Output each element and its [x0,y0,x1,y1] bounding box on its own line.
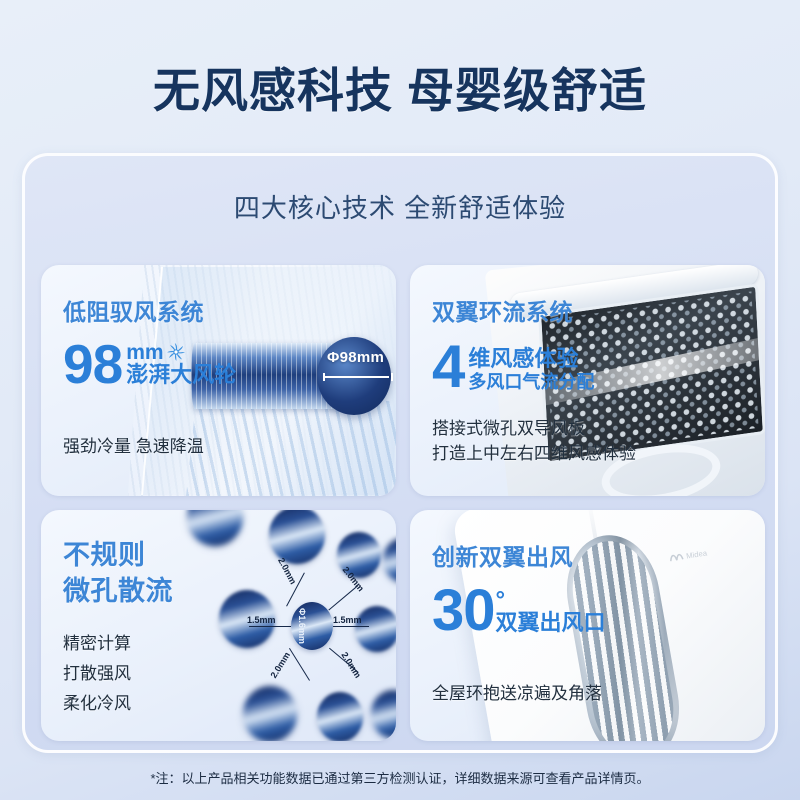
hole-pitch-callout-bottom-left: 2.0mm [268,650,292,679]
card2-stat-number: 4 [432,339,464,394]
card1-text-block: 低阻驭风系统 98 mm [63,293,236,390]
card3-title-line1: 不规则 [63,538,173,574]
card4-stat-sub: 双翼出风口 [496,611,606,636]
card4-description: 全屋环抱送凉遍及角落 [432,682,602,706]
card3-text-block: 不规则 微孔散流 [63,538,173,609]
svg-text:Midea: Midea [686,548,709,560]
card4-stat: 30 ° 双翼出风口 [432,584,606,637]
fan-diameter-callout: Φ98mm [327,349,384,366]
card3-description-line2: 打散强风 [63,662,131,686]
card1-stat-sub: 澎湃大风轮 [126,363,236,388]
card4-text-block: 创新双翼出风 30 ° 双翼出风口 [432,538,606,637]
hole-pitch-callout-bottom-right: 2.0mm [339,650,363,679]
footnote: *注：以上产品相关功能数据已通过第三方检测认证，详细数据来源可查看产品详情页。 [0,768,800,787]
feature-card-low-resistance-fan[interactable]: Φ98mm 低阻驭风系统 98 mm [41,265,396,496]
fan-diameter-dimension-line [323,373,389,381]
feature-card-dual-wing-circulation[interactable]: 双翼环流系统 4 维风感体验 多风口气流分配 搭接式微孔双导风板 打造上中左右四… [410,265,765,496]
card3-description-line1: 精密计算 [63,632,131,656]
card1-stat-number: 98 [63,339,122,390]
fan-turbine-icon [166,342,186,362]
card2-description-line2: 打造上中左右四维风感体验 [432,442,636,466]
card4-stat-number: 30 [432,584,495,637]
card2-stat: 4 维风感体验 多风口气流分配 [432,339,594,394]
card2-text-block: 双翼环流系统 4 维风感体验 多风口气流分配 [432,293,594,394]
card1-stat: 98 mm [63,339,236,390]
feature-card-grid: Φ98mm 低阻驭风系统 98 mm [41,265,765,741]
hole-pitch-callout-left: 1.5mm [247,615,276,625]
card1-title: 低阻驭风系统 [63,293,236,327]
feature-card-dual-wing-outlet[interactable]: Midea 创新双翼出风 30 ° 双翼出风口 全屋环抱送凉遍及角落 [410,510,765,741]
hole-diameter-callout: Φ1.6mm [297,608,307,644]
page-title: 无风感科技 母婴级舒适 [0,52,800,121]
card2-description-line1: 搭接式微孔双导风板 [432,417,585,441]
card2-stat-sub: 维风感体验 [468,347,594,372]
panel-subtitle: 四大核心技术 全新舒适体验 [25,188,775,225]
card2-title: 双翼环流系统 [432,293,594,327]
feature-card-irregular-micro-holes[interactable]: 2.0mm 2.0mm 1.5mm 1.5mm Φ1.6mm 2.0mm 2.0… [41,510,396,741]
card3-description-line3: 柔化冷风 [63,692,131,716]
card2-stat-sub2: 多风口气流分配 [468,372,594,392]
card4-title: 创新双翼出风 [432,538,606,572]
card3-title-line2: 微孔散流 [63,574,173,610]
card1-description: 强劲冷量 急速降温 [63,435,204,459]
card1-stat-unit: mm [126,342,163,363]
features-panel: 四大核心技术 全新舒适体验 Φ98mm 低阻驭风系统 98 mm [22,153,778,753]
hole-pitch-callout-right: 1.5mm [333,615,362,625]
